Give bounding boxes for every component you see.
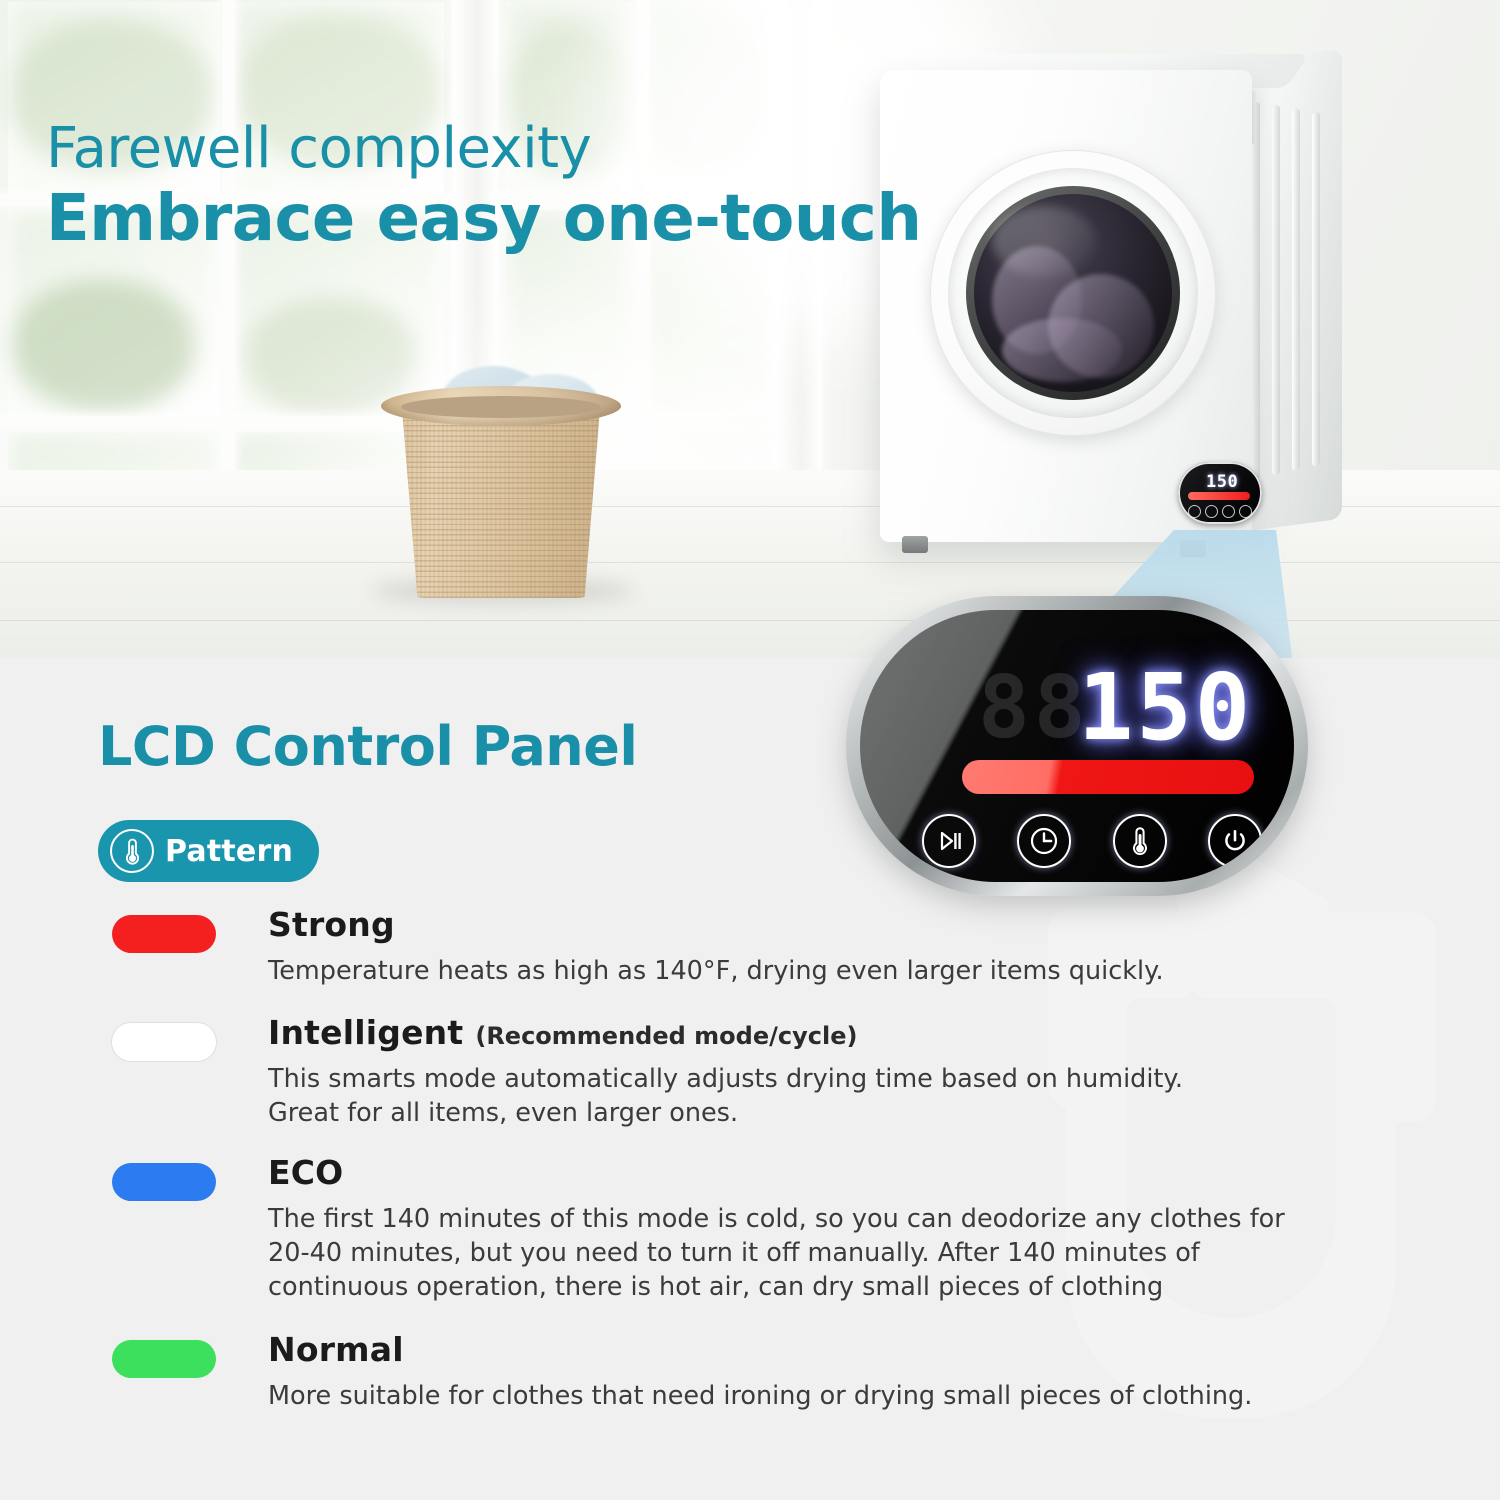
mini-play-pause-icon: [1188, 505, 1201, 518]
mode-item-eco: ECO The first 140 minutes of this mode i…: [98, 1153, 1428, 1305]
mini-indicator-bar: [1188, 492, 1250, 500]
play-pause-icon: [936, 828, 962, 854]
clock-icon: [1029, 826, 1059, 856]
panel-button-row: [922, 814, 1262, 868]
dryer-appliance: [880, 48, 1340, 560]
infographic-page: 150 Farewell complexity Embrace easy one…: [0, 0, 1500, 1500]
display-value: 150: [1078, 654, 1253, 761]
mode-indicator-bar: [962, 760, 1254, 794]
dryer-mini-control-panel: 150: [1178, 462, 1262, 524]
panel-glass: 88 150: [860, 610, 1294, 882]
mini-thermometer-icon: [1222, 505, 1235, 518]
mode-color-swatch: [112, 1163, 216, 1201]
mode-item-intelligent: Intelligent (Recommended mode/cycle) Thi…: [98, 1013, 1428, 1131]
headline-line-2: Embrace easy one-touch: [46, 179, 921, 259]
mode-color-swatch: [112, 1340, 216, 1378]
mode-description: This smarts mode automatically adjusts d…: [268, 1063, 1428, 1131]
power-button[interactable]: [1208, 814, 1262, 868]
power-icon: [1221, 827, 1249, 855]
mode-item-strong: Strong Temperature heats as high as 140°…: [98, 905, 1428, 989]
timer-button[interactable]: [1017, 814, 1071, 868]
mode-name: ECO: [268, 1153, 343, 1192]
mode-name: Intelligent: [268, 1013, 463, 1052]
mode-name: Normal: [268, 1330, 404, 1369]
thermometer-icon: [110, 829, 154, 873]
pattern-badge[interactable]: Pattern: [98, 820, 319, 882]
mode-name: Strong: [268, 905, 395, 944]
mode-description: Temperature heats as high as 140°F, dryi…: [268, 955, 1428, 989]
mode-item-normal: Normal More suitable for clothes that ne…: [98, 1330, 1428, 1414]
laundry-basket: [385, 372, 617, 604]
mode-note: (Recommended mode/cycle): [475, 1022, 857, 1050]
mode-color-swatch: [112, 1023, 216, 1061]
hero-headline: Farewell complexity Embrace easy one-tou…: [46, 120, 921, 259]
display-ghost-segments: 88: [978, 658, 1090, 758]
mini-power-icon: [1239, 505, 1252, 518]
lcd-control-panel: 88 150: [846, 596, 1308, 896]
thermometer-icon: [1131, 826, 1149, 856]
mode-color-swatch: [112, 915, 216, 953]
pattern-badge-label: Pattern: [165, 834, 293, 869]
page-title: LCD Control Panel: [98, 715, 637, 778]
mini-display-value: 150: [1206, 472, 1238, 492]
mode-description: More suitable for clothes that need iron…: [268, 1380, 1428, 1414]
headline-line-1: Farewell complexity: [46, 120, 921, 179]
mode-description: The first 140 minutes of this mode is co…: [268, 1203, 1428, 1305]
mini-clock-icon: [1205, 505, 1218, 518]
temperature-button[interactable]: [1113, 814, 1167, 868]
play-pause-button[interactable]: [922, 814, 976, 868]
mode-list: Strong Temperature heats as high as 140°…: [98, 905, 1428, 1428]
